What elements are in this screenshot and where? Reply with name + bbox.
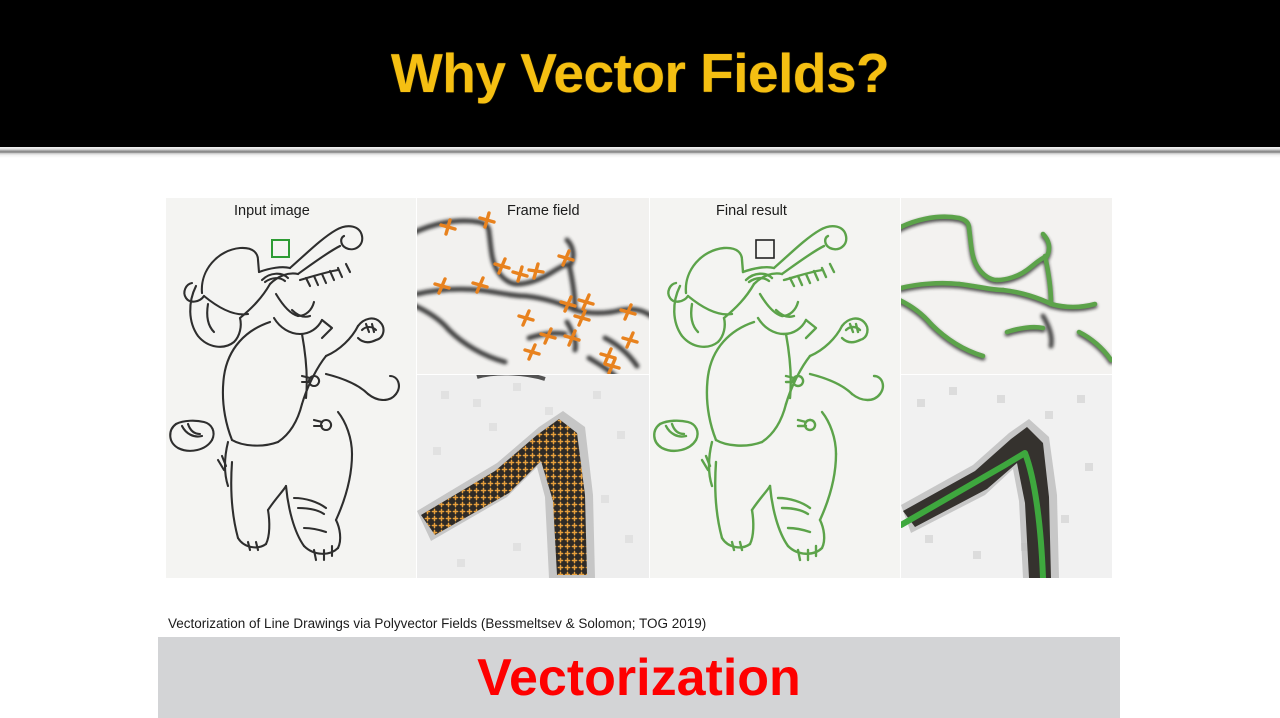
frame-field-pixel-zoom (417, 375, 649, 578)
frame-field-visualization (417, 198, 649, 374)
figure-panel-input-image: Input image (166, 198, 416, 578)
input-image-drawing (166, 198, 416, 578)
final-pixel-zoom (901, 375, 1112, 578)
figure-panel-frame-field-pixels (417, 375, 649, 578)
page-title: Why Vector Fields? (391, 46, 889, 101)
slide-header-band: Why Vector Fields? (0, 0, 1280, 147)
bottom-banner: Vectorization (158, 637, 1120, 718)
figure-panel-final-pixels (901, 375, 1112, 578)
final-closeup-overlay (901, 198, 1112, 374)
figure-container: Input image (166, 198, 1112, 578)
figure-reference-caption: Vectorization of Line Drawings via Polyv… (168, 616, 706, 631)
figure-panel-frame-field: Frame field (417, 198, 649, 374)
header-divider (0, 147, 1280, 158)
banner-label-vectorization: Vectorization (477, 652, 801, 704)
figure-panel-final-result: Final result (650, 198, 900, 578)
final-result-drawing (650, 198, 900, 578)
figure-panel-final-closeup (901, 198, 1112, 374)
